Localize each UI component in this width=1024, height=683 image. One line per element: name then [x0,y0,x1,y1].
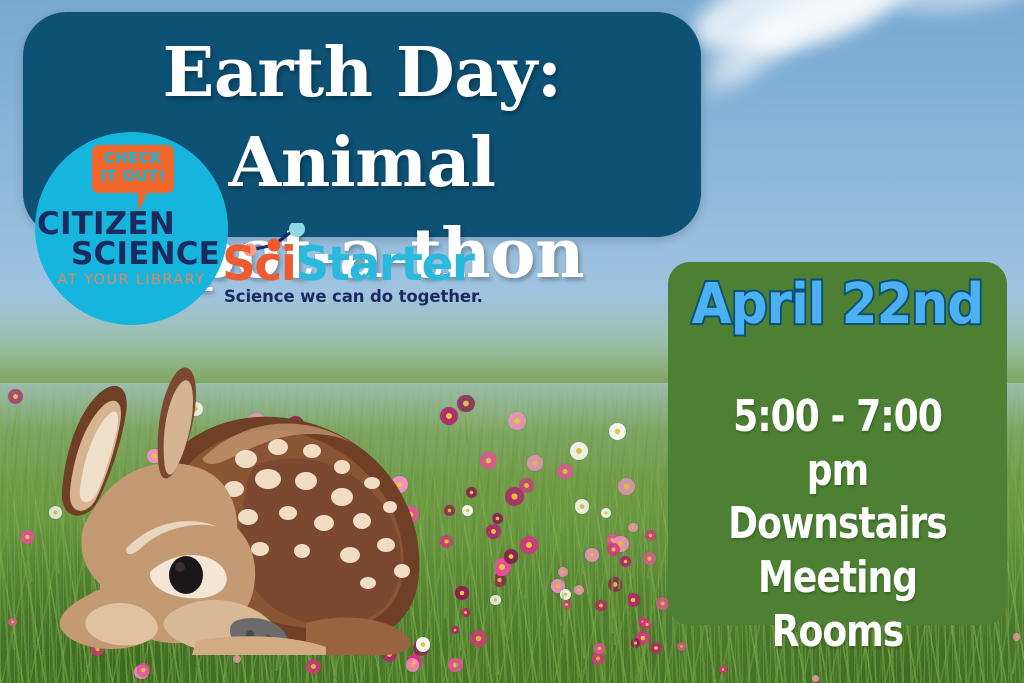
scistarter-tagline: Science we can do together. [224,287,483,306]
cosmos-flower [645,530,656,541]
cosmos-flower [585,548,599,562]
cosmos-flower [575,499,589,513]
poster-canvas: Earth Day: Animal Spot-a-thon CHECK IT O… [0,0,1024,683]
cosmos-flower [609,423,626,440]
cosmos-flower [1013,633,1021,641]
cosmos-flower [719,666,726,673]
cosmos-flower [492,513,503,524]
cosmos-flower [233,655,241,663]
cosmos-flower [457,395,474,412]
cosmos-flower [557,464,572,479]
cosmos-flower [480,452,497,469]
cosmos-flower [812,675,819,682]
cosmos-flower [594,643,605,654]
cosmos-flower [607,543,620,556]
bubble-line-2: IT OUT! [92,167,174,185]
scistarter-wordmark: SciStarter [222,237,474,292]
scistarter-logo: SciStarter Science we can do together. [222,237,462,309]
cloud-wisp [877,0,1024,22]
cosmos-flower [650,642,662,654]
flower-stem [565,604,568,661]
cosmos-flower [570,442,588,460]
cosmos-flower [520,536,538,554]
cosmos-flower [618,478,635,495]
event-details: 5:00 - 7:00 pm Downstairs Meeting Rooms [699,390,977,658]
fawn-illustration [6,355,426,655]
cosmos-flower [558,567,568,577]
wordmark-starter: Starter [295,237,473,292]
citizen-science-logo: CHECK IT OUT! CITIZEN SCIENCE AT YOUR LI… [35,132,228,325]
cosmos-flower [466,487,477,498]
cosmos-flower [462,505,473,516]
event-date: April 22nd [682,272,994,337]
wordmark-sci: Sci [222,237,295,292]
bubble-line-1: CHECK [92,149,174,167]
flower-stem [614,585,616,645]
logo-word-science: SCIENCE [71,236,220,272]
cosmos-flower [470,630,487,647]
cosmos-flower [451,626,459,634]
cosmos-flower [306,659,321,674]
cosmos-flower [444,505,455,516]
event-info-box: April 22nd 5:00 - 7:00 pm Downstairs Mee… [668,262,1007,625]
cosmos-flower [455,586,469,600]
logo-tagline: AT YOUR LIBRARY [35,272,228,288]
